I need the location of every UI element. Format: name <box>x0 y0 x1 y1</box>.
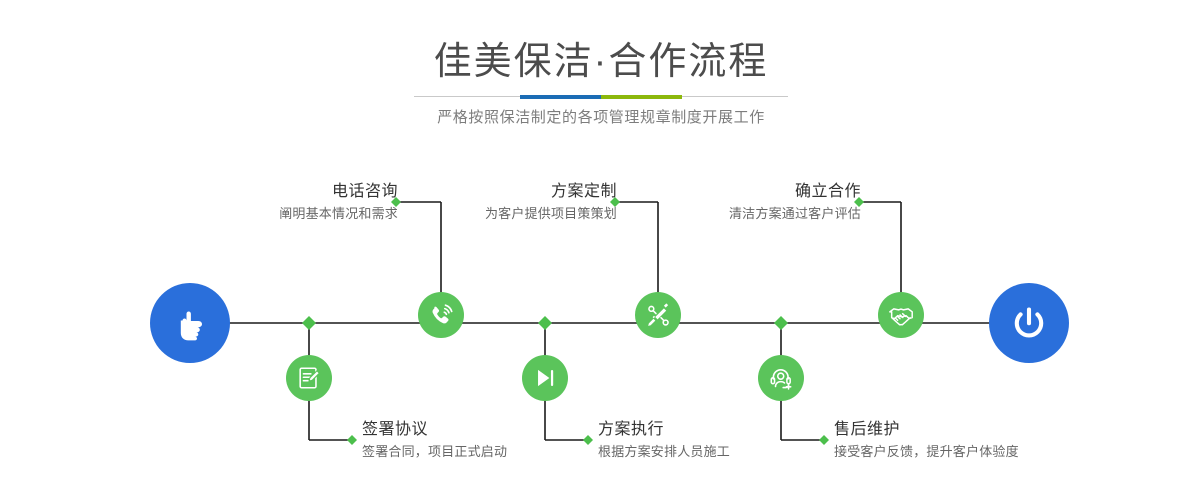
flow-end-node[interactable] <box>989 283 1069 363</box>
step-icon-6[interactable] <box>758 355 804 401</box>
play-execute-icon <box>532 365 558 391</box>
timeline-diamond-step-4 <box>538 316 552 330</box>
label-diamond-step-2 <box>347 435 357 445</box>
phone-call-icon <box>428 302 455 329</box>
divider-segment-blue <box>520 95 601 99</box>
step-title-5: 确立合作 <box>611 181 861 203</box>
step-label-1: 电话咨询 阐明基本情况和需求 <box>148 181 398 224</box>
step-label-6: 售后维护 接受客户反馈，提升客户体验度 <box>834 419 1164 462</box>
step-label-5: 确立合作 清洁方案通过客户评估 <box>611 181 861 224</box>
step-desc-1: 阐明基本情况和需求 <box>148 203 398 224</box>
page-title: 佳美保洁·合作流程 <box>0 38 1202 86</box>
divider-segment-green <box>601 95 682 99</box>
pencil-design-icon <box>645 302 672 329</box>
headset-support-icon <box>768 365 795 392</box>
step-icon-1[interactable] <box>418 292 464 338</box>
step-icon-5[interactable] <box>878 292 924 338</box>
step-desc-3: 为客户提供项目策策划 <box>367 203 617 224</box>
page-subtitle: 严格按照保洁制定的各项管理规章制度开展工作 <box>0 106 1202 130</box>
page-header: 佳美保洁·合作流程 严格按照保洁制定的各项管理规章制度开展工作 <box>0 0 1202 150</box>
handshake-icon <box>887 301 915 329</box>
pointing-hand-icon <box>168 301 212 345</box>
step-desc-5: 清洁方案通过客户评估 <box>611 203 861 224</box>
document-sign-icon <box>296 365 322 391</box>
step-icon-3[interactable] <box>635 292 681 338</box>
timeline-diamond-step-2 <box>302 316 316 330</box>
step-title-1: 电话咨询 <box>148 181 398 203</box>
step-label-3: 方案定制 为客户提供项目策策划 <box>367 181 617 224</box>
timeline-diamond-step-6 <box>774 316 788 330</box>
title-divider <box>414 95 788 99</box>
step-title-3: 方案定制 <box>367 181 617 203</box>
power-icon <box>1007 301 1051 345</box>
step-icon-2[interactable] <box>286 355 332 401</box>
step-title-6: 售后维护 <box>834 419 1164 441</box>
step-desc-6: 接受客户反馈，提升客户体验度 <box>834 441 1164 462</box>
flow-start-node[interactable] <box>150 283 230 363</box>
cooperation-flow-diagram: 电话咨询 阐明基本情况和需求 方案定制 为客户提供项目策策划 <box>0 150 1202 502</box>
step-icon-4[interactable] <box>522 355 568 401</box>
